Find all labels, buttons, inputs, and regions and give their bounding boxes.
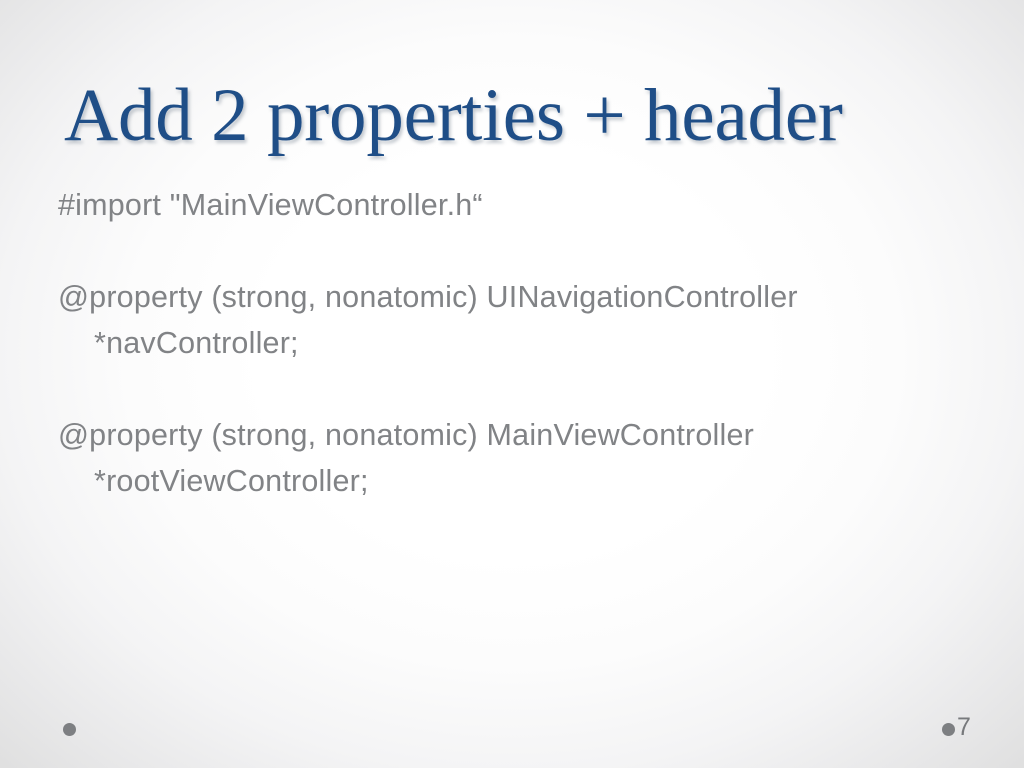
- code-line-import-text: #import "MainViewController.h“: [58, 188, 483, 222]
- paragraph-spacer: [58, 228, 988, 274]
- footer-bullet-left-icon: [63, 723, 76, 736]
- code-line-root-view-controller-text: @property (strong, nonatomic) MainViewCo…: [58, 418, 754, 452]
- code-line-root-view-controller: @property (strong, nonatomic) MainViewCo…: [58, 412, 988, 504]
- slide-canvas: Add 2 properties + header #import "MainV…: [0, 0, 1024, 768]
- code-line-import: #import "MainViewController.h“: [58, 182, 988, 228]
- footer-bullet-right-icon: [942, 723, 955, 736]
- code-line-nav-controller-continuation: *navController;: [58, 320, 988, 366]
- code-line-root-view-controller-continuation: *rootViewController;: [58, 458, 988, 504]
- page-number: 7: [957, 713, 971, 742]
- code-line-nav-controller-text: @property (strong, nonatomic) UINavigati…: [58, 280, 798, 314]
- slide-body: #import "MainViewController.h“ @property…: [58, 182, 988, 504]
- code-line-nav-controller: @property (strong, nonatomic) UINavigati…: [58, 274, 988, 366]
- paragraph-spacer: [58, 366, 988, 412]
- slide-title: Add 2 properties + header: [64, 76, 976, 156]
